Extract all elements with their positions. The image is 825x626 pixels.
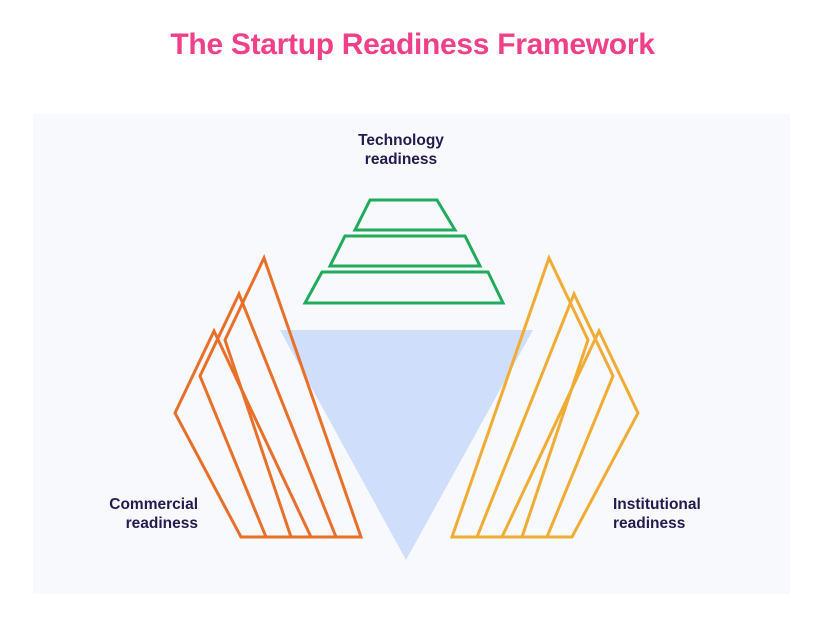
- label-institutional-readiness: Institutional readiness: [613, 495, 793, 534]
- label-institutional-line2: readiness: [613, 515, 685, 532]
- page-title: The Startup Readiness Framework: [0, 28, 825, 62]
- technology-pyramid: [305, 200, 503, 303]
- technology-tier-top: [355, 200, 455, 230]
- label-technology-readiness: Technology readiness: [301, 131, 501, 170]
- center-inverted-triangle: [280, 330, 533, 560]
- technology-tier-middle: [330, 236, 480, 266]
- framework-diagram-panel: Technology readiness Commercial readines…: [33, 114, 790, 594]
- label-commercial-line2: readiness: [126, 515, 198, 532]
- label-commercial-line1: Commercial: [109, 496, 198, 513]
- label-technology-line1: Technology: [358, 132, 444, 149]
- label-commercial-readiness: Commercial readiness: [28, 495, 198, 534]
- label-technology-line2: readiness: [365, 151, 437, 168]
- label-institutional-line1: Institutional: [613, 496, 701, 513]
- technology-tier-bottom: [305, 272, 503, 303]
